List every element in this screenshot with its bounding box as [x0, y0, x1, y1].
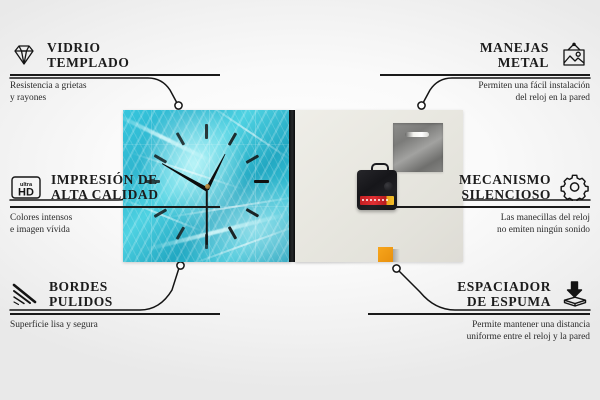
arrow-press-pad-icon	[560, 280, 590, 308]
hanging-picture-frame-icon	[558, 42, 590, 68]
tick-3	[254, 180, 269, 183]
callout-rule	[368, 313, 590, 314]
tick-4	[246, 208, 259, 217]
gear-icon	[560, 173, 590, 201]
callout-title: MANEJAS METAL	[480, 40, 549, 70]
callout-description: Las manecillas del reloj no emiten ningú…	[380, 212, 590, 237]
callout-title: MECANISMO SILENCIOSO	[459, 172, 551, 202]
callout-rule	[10, 74, 220, 75]
hanger-slot	[405, 132, 429, 137]
callout-bordes-pulidos: BORDES PULIDOS Superficie lisa y segura	[10, 279, 220, 331]
callout-rule	[380, 206, 590, 207]
callout-rule	[380, 74, 590, 75]
callout-vidrio-templado: VIDRIO TEMPLADO Resistencia a grietas y …	[10, 40, 220, 104]
callout-rule	[10, 206, 220, 207]
diagonal-lines-icon	[10, 282, 40, 306]
callout-description: Colores intensos e imagen vívida	[10, 212, 220, 237]
foam-spacer	[378, 247, 393, 262]
callout-description: Resistencia a grietas y rayones	[10, 80, 220, 105]
ultra-hd-icon-main-text: HD	[18, 186, 34, 198]
callout-mecanismo-silencioso: MECANISMO SILENCIOSO Las manecillas del …	[380, 172, 590, 236]
callout-title: IMPRESIÓN DE ALTA CALIDAD	[51, 172, 159, 202]
tick-11	[176, 132, 185, 145]
callout-title: ESPACIADOR DE ESPUMA	[457, 279, 551, 309]
tick-1	[228, 132, 237, 145]
tick-10	[154, 154, 167, 163]
diamond-icon	[10, 43, 38, 67]
foam-spacer-shadow	[393, 249, 400, 262]
callout-description: Superficie lisa y segura	[10, 319, 220, 331]
tick-12	[205, 124, 208, 139]
metal-hanger-plate	[393, 123, 443, 172]
callout-rule	[10, 313, 220, 314]
callout-espaciador-de-espuma: ESPACIADOR DE ESPUMA Permite mantener un…	[368, 279, 590, 343]
callout-description: Permite mantener una distancia uniforme …	[368, 319, 590, 344]
tick-2	[246, 154, 259, 163]
callout-manejas-metal: MANEJAS METAL Permiten una fácil instala…	[380, 40, 590, 104]
callout-impresion-alta-calidad: ultra HD IMPRESIÓN DE ALTA CALIDAD Color…	[10, 172, 220, 236]
callout-title: BORDES PULIDOS	[49, 279, 113, 309]
callout-description: Permiten una fácil instalación del reloj…	[380, 80, 590, 105]
callout-title: VIDRIO TEMPLADO	[47, 40, 129, 70]
ultra-hd-icon: ultra HD	[10, 175, 42, 200]
tick-5	[228, 226, 237, 239]
infographic-canvas: VIDRIO TEMPLADO Resistencia a grietas y …	[0, 0, 600, 400]
